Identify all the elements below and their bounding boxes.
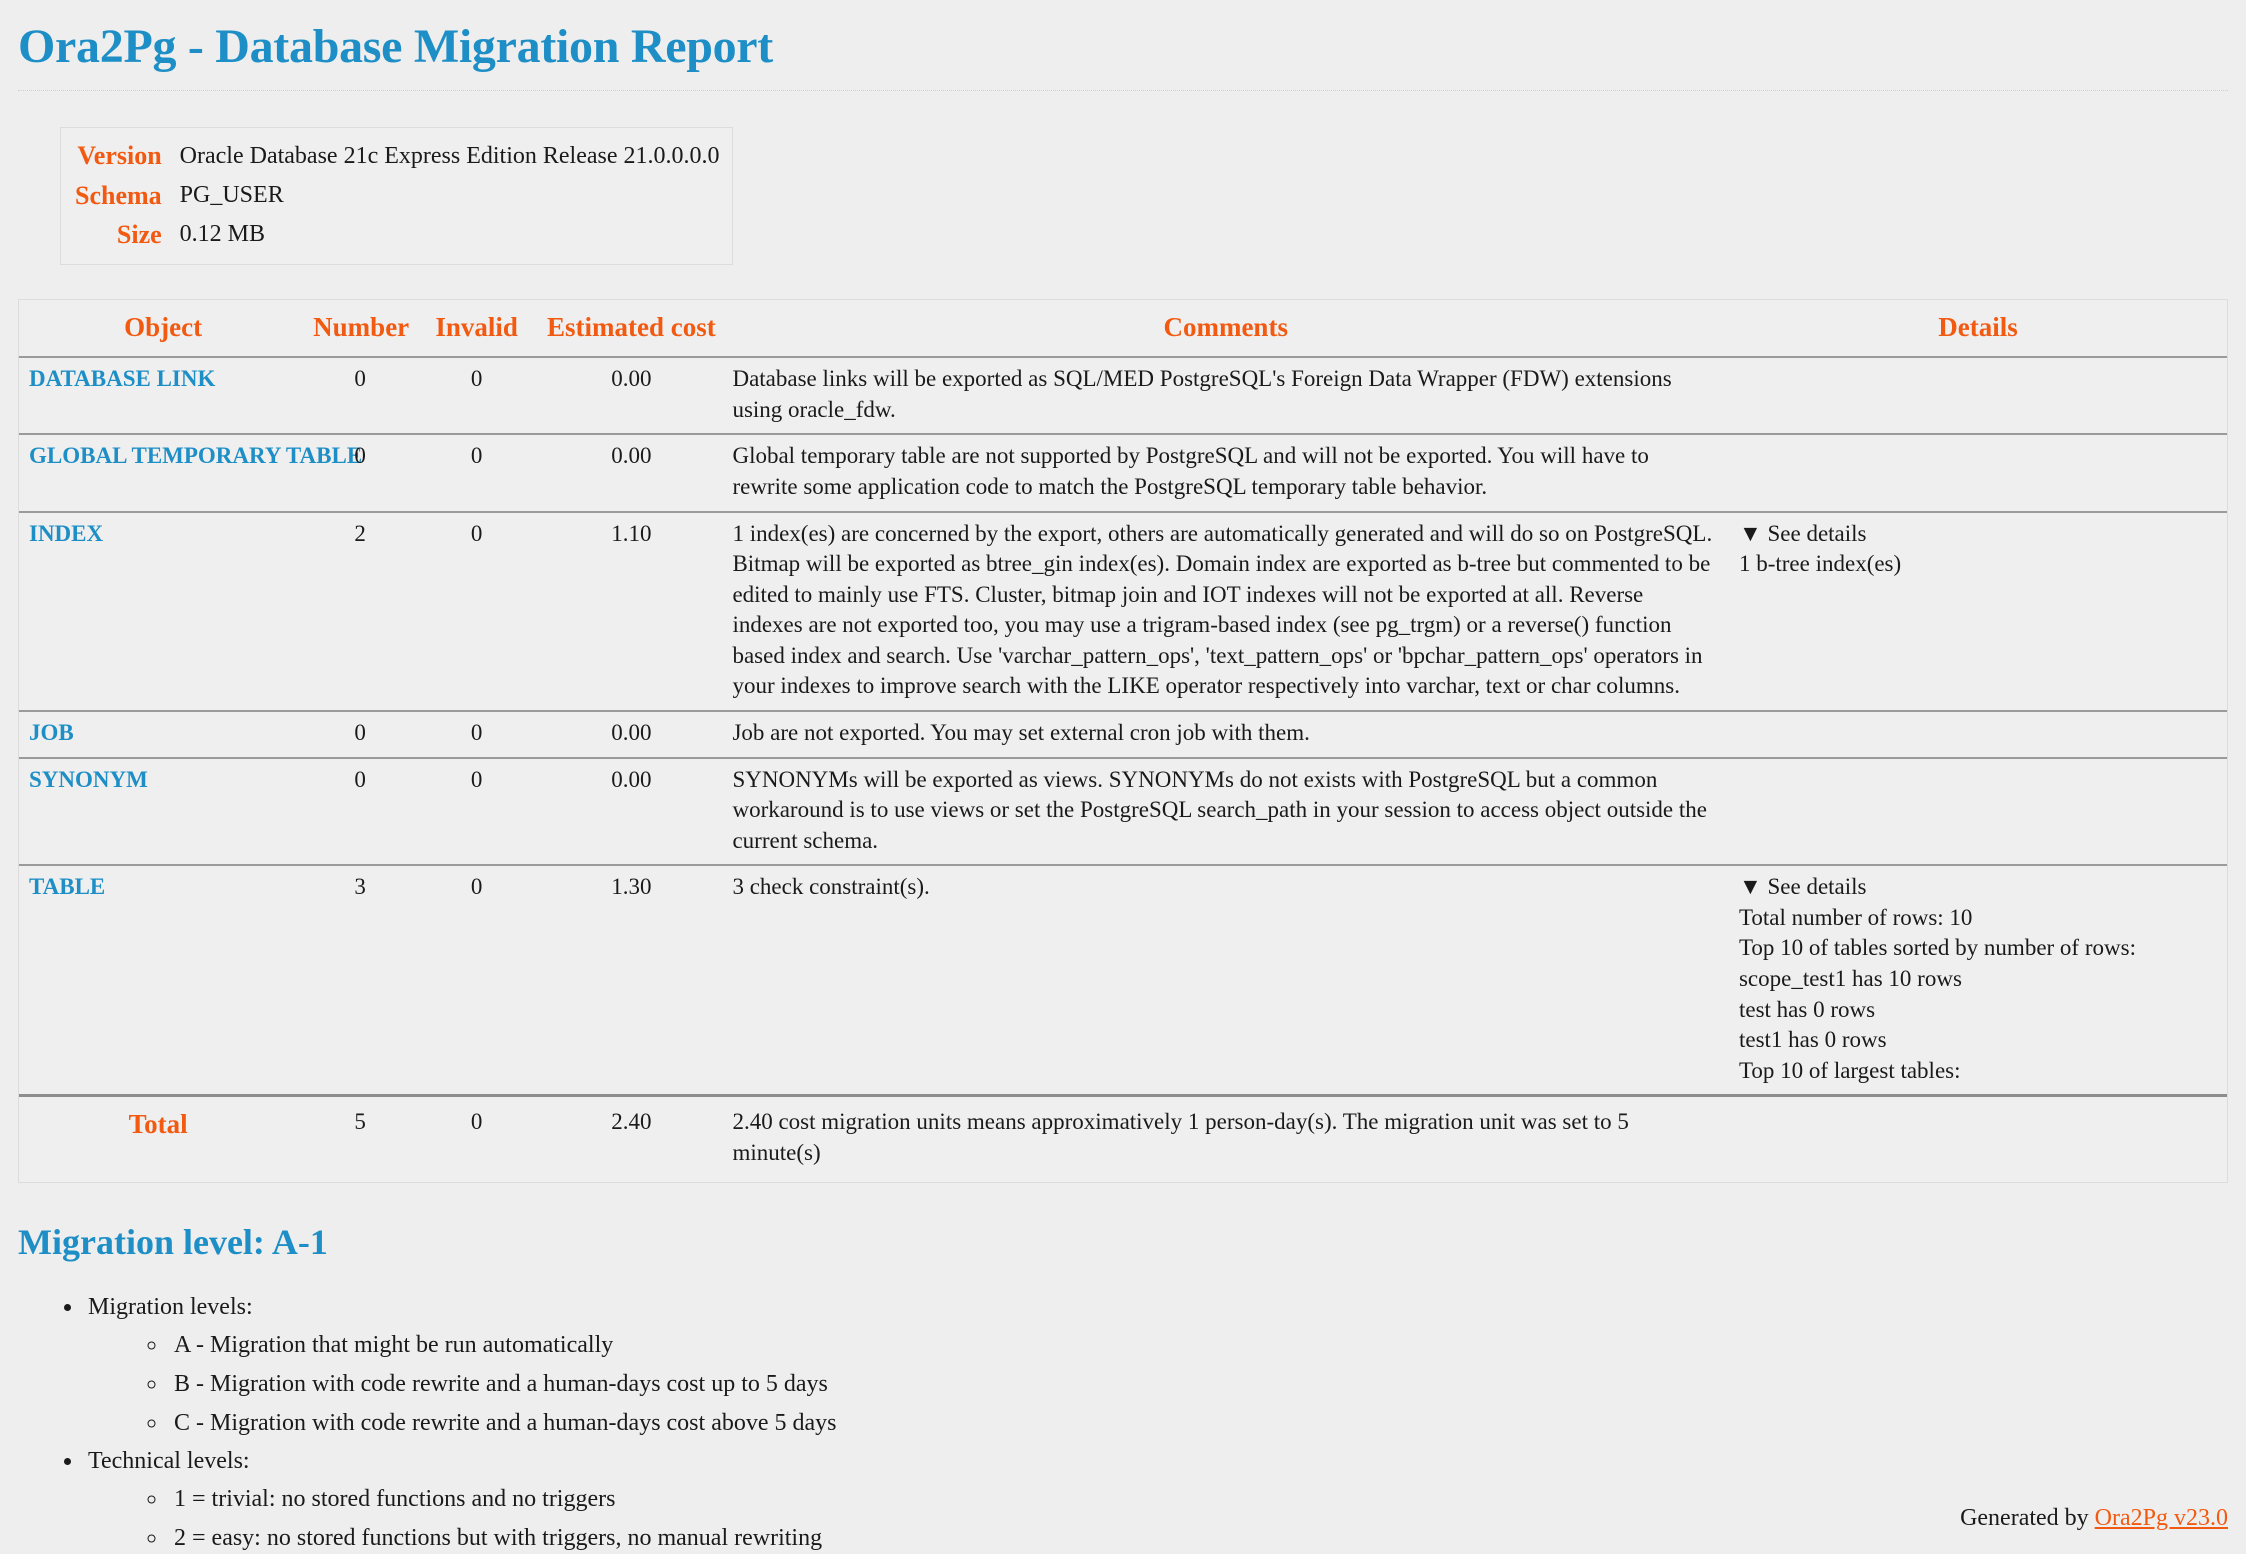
detail-line: 1 b-tree index(es) xyxy=(1739,549,2217,580)
cell-estimated-cost: 1.30 xyxy=(540,865,722,1096)
cell-number: 3 xyxy=(307,865,413,1096)
table-total-row: Total502.402.40 cost migration units mea… xyxy=(19,1096,2227,1183)
info-value-size: 0.12 MB xyxy=(172,215,732,265)
cell-details xyxy=(1729,357,2227,434)
footer: Generated by Ora2Pg v23.0 xyxy=(1960,1505,2228,1532)
cell-object-name[interactable]: TABLE xyxy=(19,865,307,1096)
info-label-size: Size xyxy=(61,215,172,265)
cell-number: 0 xyxy=(307,758,413,866)
object-summary-head: Object Number Invalid Estimated cost Com… xyxy=(19,300,2227,357)
column-header-comments: Comments xyxy=(722,300,1729,357)
cell-invalid: 0 xyxy=(413,357,540,434)
table-row: GLOBAL TEMPORARY TABLE000.00Global tempo… xyxy=(19,434,2227,511)
cell-comment: 3 check constraint(s). xyxy=(722,865,1729,1096)
column-header-invalid: Invalid xyxy=(413,300,540,357)
cell-object-name[interactable]: GLOBAL TEMPORARY TABLE xyxy=(19,434,307,511)
migration-sub-list: 1 = trivial: no stored functions and no … xyxy=(88,1480,2228,1554)
database-info-section: Version Oracle Database 21c Express Edit… xyxy=(18,91,2228,265)
detail-line: Top 10 of tables sorted by number of row… xyxy=(1739,933,2217,964)
cell-estimated-cost: 0.00 xyxy=(540,357,722,434)
detail-line: test1 has 0 rows xyxy=(1739,1025,2217,1056)
list-item: 1 = trivial: no stored functions and no … xyxy=(168,1480,2228,1519)
cell-comment: Database links will be exported as SQL/M… xyxy=(722,357,1729,434)
object-summary-body: DATABASE LINK000.00Database links will b… xyxy=(19,357,2227,1182)
cell-invalid: 0 xyxy=(413,758,540,866)
info-row-version: Version Oracle Database 21c Express Edit… xyxy=(61,128,733,176)
see-details-toggle[interactable]: ▼ See details xyxy=(1739,872,2217,903)
database-info-table: Version Oracle Database 21c Express Edit… xyxy=(60,127,733,265)
total-label: Total xyxy=(19,1096,307,1183)
migration-group-label: Migration levels: xyxy=(88,1294,253,1320)
see-details-toggle[interactable]: ▼ See details xyxy=(1739,519,2217,550)
info-value-version: Oracle Database 21c Express Edition Rele… xyxy=(172,128,732,176)
cell-invalid: 0 xyxy=(413,711,540,758)
cell-number: 0 xyxy=(307,357,413,434)
migration-levels-list: Migration levels:A - Migration that migh… xyxy=(18,1289,2228,1554)
cell-details: ▼ See details1 b-tree index(es) xyxy=(1729,512,2227,711)
title-bar: Ora2Pg - Database Migration Report xyxy=(18,0,2228,91)
object-summary-table: Object Number Invalid Estimated cost Com… xyxy=(19,300,2227,1183)
cell-comment: Job are not exported. You may set extern… xyxy=(722,711,1729,758)
cell-object-name[interactable]: SYNONYM xyxy=(19,758,307,866)
list-item: 2 = easy: no stored functions but with t… xyxy=(168,1519,2228,1554)
cell-object-name[interactable]: DATABASE LINK xyxy=(19,357,307,434)
detail-line: Top 10 of largest tables: xyxy=(1739,1056,2217,1087)
column-header-details: Details xyxy=(1729,300,2227,357)
cell-estimated-cost: 0.00 xyxy=(540,711,722,758)
cell-details: ▼ See detailsTotal number of rows: 10Top… xyxy=(1729,865,2227,1096)
cell-details xyxy=(1729,711,2227,758)
cell-details xyxy=(1729,758,2227,866)
list-item: B - Migration with code rewrite and a hu… xyxy=(168,1365,2228,1404)
table-row: SYNONYM000.00SYNONYMs will be exported a… xyxy=(19,758,2227,866)
cell-comment: 1 index(es) are concerned by the export,… xyxy=(722,512,1729,711)
column-header-number: Number xyxy=(307,300,413,357)
list-item: A - Migration that might be run automati… xyxy=(168,1326,2228,1365)
cell-estimated-cost: 1.10 xyxy=(540,512,722,711)
migration-sub-list: A - Migration that might be run automati… xyxy=(88,1326,2228,1443)
migration-group-label: Technical levels: xyxy=(88,1448,250,1474)
total-details xyxy=(1729,1096,2227,1183)
migration-group: Migration levels:A - Migration that migh… xyxy=(84,1289,2228,1443)
footer-prefix: Generated by xyxy=(1960,1505,2095,1531)
cell-details xyxy=(1729,434,2227,511)
total-invalid: 0 xyxy=(413,1096,540,1183)
total-estimated-cost: 2.40 xyxy=(540,1096,722,1183)
info-value-schema: PG_USER xyxy=(172,176,732,215)
detail-line: scope_test1 has 10 rows xyxy=(1739,964,2217,995)
info-row-schema: Schema PG_USER xyxy=(61,176,733,215)
cell-estimated-cost: 0.00 xyxy=(540,434,722,511)
detail-line: test has 0 rows xyxy=(1739,995,2217,1026)
table-row: DATABASE LINK000.00Database links will b… xyxy=(19,357,2227,434)
table-row: JOB000.00Job are not exported. You may s… xyxy=(19,711,2227,758)
migration-group: Technical levels:1 = trivial: no stored … xyxy=(84,1443,2228,1554)
info-row-size: Size 0.12 MB xyxy=(61,215,733,265)
detail-line: Total number of rows: 10 xyxy=(1739,903,2217,934)
page-title: Ora2Pg - Database Migration Report xyxy=(18,22,2228,72)
cell-number: 0 xyxy=(307,711,413,758)
cell-invalid: 0 xyxy=(413,865,540,1096)
table-row: INDEX201.101 index(es) are concerned by … xyxy=(19,512,2227,711)
cell-invalid: 0 xyxy=(413,434,540,511)
cell-object-name[interactable]: INDEX xyxy=(19,512,307,711)
info-label-version: Version xyxy=(61,128,172,176)
cell-comment: SYNONYMs will be exported as views. SYNO… xyxy=(722,758,1729,866)
object-summary-section: Object Number Invalid Estimated cost Com… xyxy=(18,299,2228,1184)
column-header-object: Object xyxy=(19,300,307,357)
migration-level-heading: Migration level: A-1 xyxy=(18,1223,2228,1263)
table-header-row: Object Number Invalid Estimated cost Com… xyxy=(19,300,2227,357)
total-number: 5 xyxy=(307,1096,413,1183)
ora2pg-link[interactable]: Ora2Pg v23.0 xyxy=(2095,1505,2228,1531)
report-page: Ora2Pg - Database Migration Report Versi… xyxy=(0,0,2246,1554)
cell-invalid: 0 xyxy=(413,512,540,711)
list-item: C - Migration with code rewrite and a hu… xyxy=(168,1404,2228,1443)
cell-number: 2 xyxy=(307,512,413,711)
info-label-schema: Schema xyxy=(61,176,172,215)
total-comment: 2.40 cost migration units means approxim… xyxy=(722,1096,1729,1183)
column-header-cost: Estimated cost xyxy=(540,300,722,357)
cell-comment: Global temporary table are not supported… xyxy=(722,434,1729,511)
table-row: TABLE301.303 check constraint(s).▼ See d… xyxy=(19,865,2227,1096)
cell-estimated-cost: 0.00 xyxy=(540,758,722,866)
database-info-body: Version Oracle Database 21c Express Edit… xyxy=(61,128,733,265)
cell-object-name[interactable]: JOB xyxy=(19,711,307,758)
